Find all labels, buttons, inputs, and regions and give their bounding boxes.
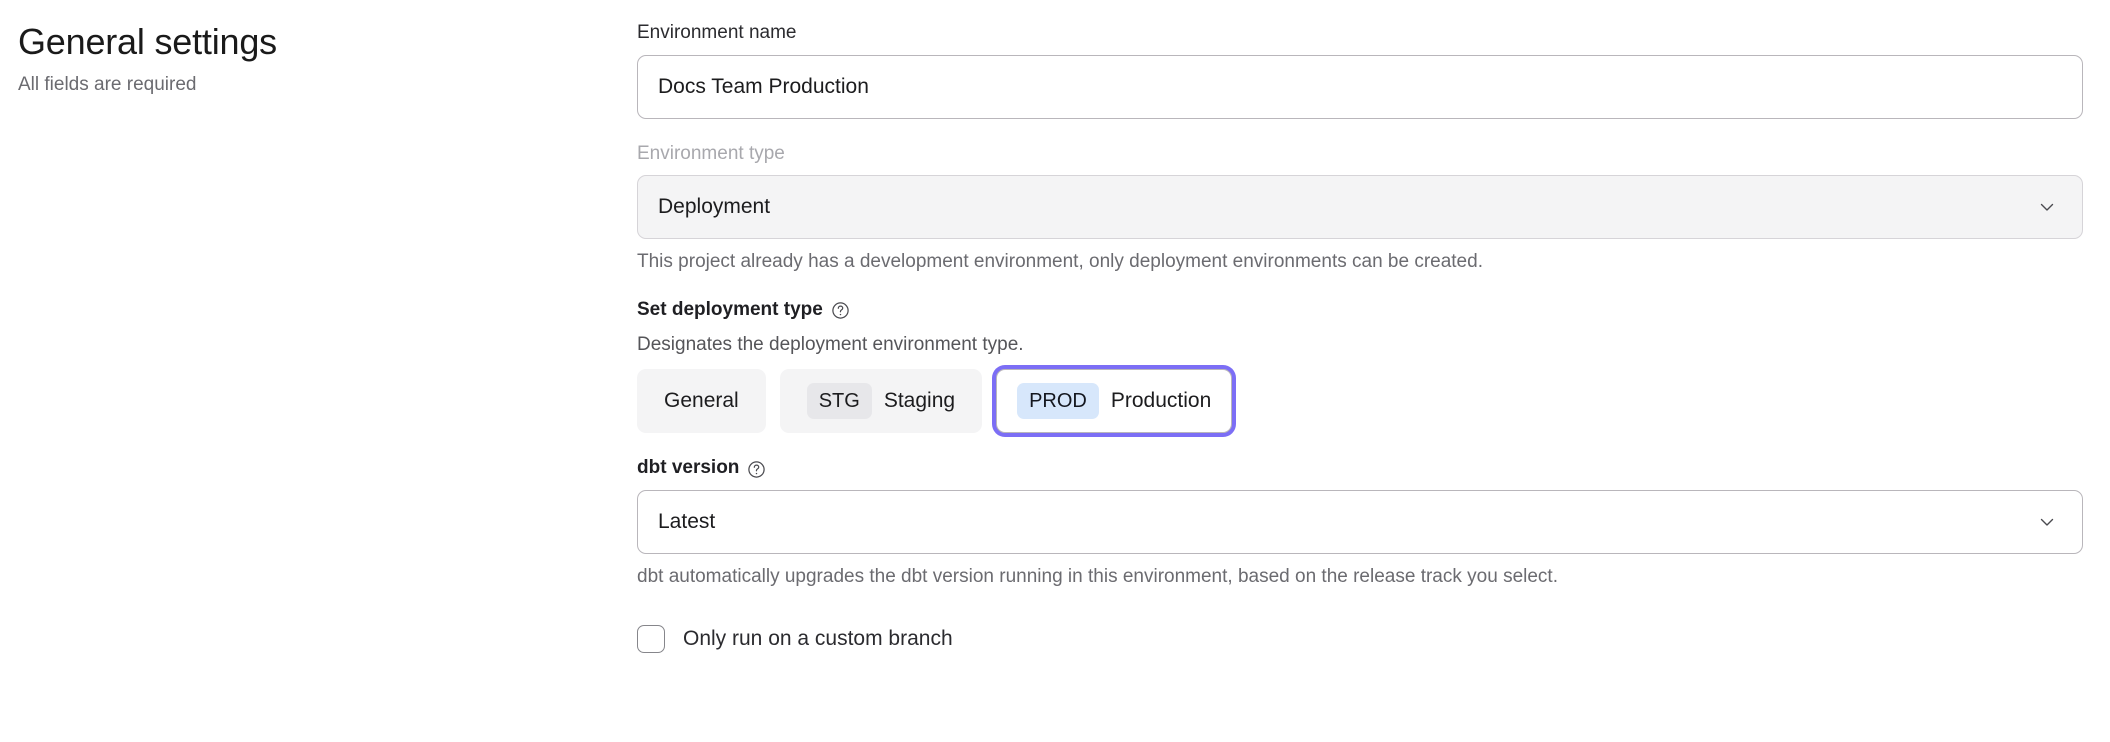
- custom-branch-checkbox[interactable]: [637, 625, 665, 653]
- environment-name-label-text: Environment name: [637, 20, 796, 46]
- custom-branch-row: Only run on a custom branch: [637, 625, 2083, 653]
- general-settings-form: Environment name Docs Team Production En…: [637, 20, 2083, 653]
- dbt-version-value: Latest: [658, 510, 2036, 534]
- environment-type-label: Environment type: [637, 141, 2083, 167]
- dbt-version-select[interactable]: Latest: [637, 490, 2083, 554]
- environment-type-value: Deployment: [658, 195, 2036, 219]
- stg-badge: STG: [807, 383, 872, 419]
- deployment-type-option-production-label: Production: [1111, 389, 1211, 413]
- page-title: General settings: [18, 20, 598, 63]
- question-circle-icon[interactable]: [831, 301, 850, 320]
- deployment-type-option-production[interactable]: PROD Production: [996, 369, 1232, 433]
- deployment-type-label-text: Set deployment type: [637, 297, 823, 323]
- page-subtitle: All fields are required: [18, 73, 598, 98]
- environment-type-label-text: Environment type: [637, 141, 785, 167]
- question-circle-icon[interactable]: [747, 460, 766, 479]
- deployment-type-field: Set deployment type Designates the deplo…: [637, 297, 2083, 433]
- environment-type-select[interactable]: Deployment: [637, 175, 2083, 239]
- deployment-type-label: Set deployment type: [637, 297, 2083, 323]
- dbt-version-label: dbt version: [637, 455, 2083, 481]
- prod-badge: PROD: [1017, 383, 1099, 419]
- dbt-version-label-text: dbt version: [637, 455, 739, 481]
- deployment-type-option-staging[interactable]: STG Staging: [780, 369, 982, 433]
- deployment-type-description: Designates the deployment environment ty…: [637, 332, 2083, 358]
- custom-branch-label[interactable]: Only run on a custom branch: [683, 627, 953, 651]
- environment-name-value: Docs Team Production: [658, 75, 2062, 99]
- environment-name-label: Environment name: [637, 20, 2083, 46]
- dbt-version-field: dbt version Latest dbt automatically upg…: [637, 455, 2083, 589]
- dbt-version-help-text: dbt automatically upgrades the dbt versi…: [637, 564, 2083, 590]
- environment-type-field: Environment type Deployment This project…: [637, 141, 2083, 275]
- deployment-type-option-general-label: General: [664, 389, 739, 413]
- deployment-type-options: General STG Staging PROD Production: [637, 369, 2083, 433]
- environment-name-input[interactable]: Docs Team Production: [637, 55, 2083, 119]
- deployment-type-option-staging-label: Staging: [884, 389, 955, 413]
- environment-name-field: Environment name Docs Team Production: [637, 20, 2083, 119]
- settings-intro: General settings All fields are required: [18, 20, 598, 98]
- chevron-down-icon: [2036, 511, 2058, 533]
- chevron-down-icon: [2036, 196, 2058, 218]
- environment-type-help-text: This project already has a development e…: [637, 249, 2083, 275]
- deployment-type-option-general[interactable]: General: [637, 369, 766, 433]
